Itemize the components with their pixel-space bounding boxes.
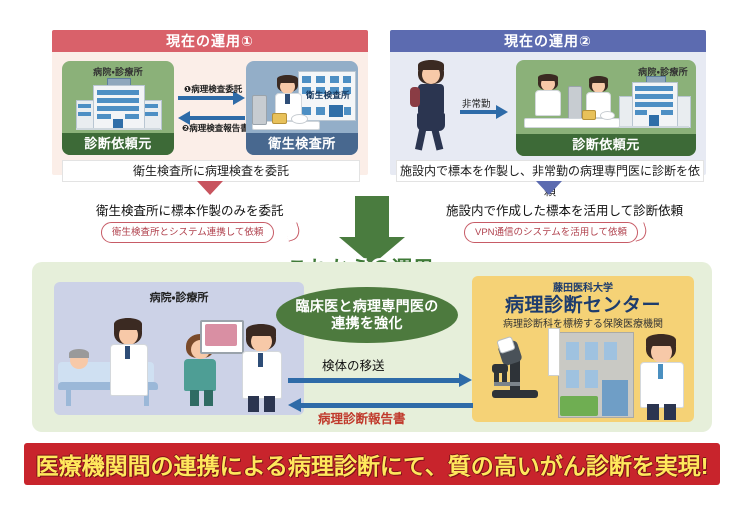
panel2-header: 現在の運用② <box>390 30 706 52</box>
consulting-doctor-figure <box>238 324 290 412</box>
pathologist-center-figure <box>638 334 688 420</box>
middle-left-bubble-tail <box>284 222 302 242</box>
panel1-arrow-report-label: ❷病理検査報告書 <box>182 122 249 134</box>
specimen-transfer-label: 検体の移送 <box>322 355 385 374</box>
panel1-lab-card-title: 衛生検査所 <box>306 89 358 101</box>
panel1-clinic-card: 病院・診療所 診断 <box>62 61 174 155</box>
future-clinic-box: 病院・診療所 <box>54 282 304 415</box>
panel-current-operation-2: 現在の運用② 非常勤 病院・診療所 <box>390 30 706 175</box>
pathology-center-subtitle: 病理診断科を標榜する保険医療機関 <box>472 315 694 330</box>
collaboration-ellipse: 臨床医と病理専門医の 連携を強化 <box>276 287 458 343</box>
panel1-arrow-request-label: ❶病理検査委託 <box>184 83 242 95</box>
infographic-canvas: 現在の運用① 病院・診療所 <box>0 0 744 524</box>
panel2-clinic-card: 病院・診療所 <box>516 60 696 156</box>
future-clinic-title: 病院・診療所 <box>54 289 304 305</box>
panel2-body: 非常勤 病院・診療所 <box>390 52 706 175</box>
panel1-clinic-card-caption: 診断依頼元 <box>62 133 174 155</box>
pathology-center-box: 藤田医科大学 病理診断センター 病理診断科を標榜する保険医療機関 <box>472 276 694 422</box>
panel1-body: 病院・診療所 診断 <box>52 52 368 175</box>
bottom-banner: 医療機関間の連携による病理診断にて、質の高いがん診断を実現! <box>24 443 720 485</box>
middle-right-bubble: VPN通信のシステムを活用して依頼 <box>464 222 638 243</box>
doctor-examining-figure <box>106 318 152 410</box>
part-time-doctor-figure <box>408 60 454 156</box>
middle-right-text: 施設内で作成した標本を活用して診断依頼 <box>446 200 683 219</box>
bottom-banner-text: 医療機関間の連携による病理診断にて、質の高いがん診断を実現! <box>36 447 709 481</box>
panel2-caption: 施設内で標本を作製し、非常勤の病理専門医に診断を依頼 <box>396 160 704 182</box>
middle-left-text: 衛生検査所に標本作製のみを委託 <box>96 200 284 219</box>
collaboration-ellipse-line1: 臨床医と病理専門医の <box>296 298 439 316</box>
panel1-down-triangle <box>197 181 223 195</box>
panel2-down-triangle <box>536 181 562 195</box>
panel2-clinic-card-caption: 診断依頼元 <box>516 134 696 156</box>
hospital-building-icon-2 <box>619 76 689 128</box>
lab-equipment-icon <box>568 86 582 122</box>
collaboration-ellipse-line2: 連携を強化 <box>296 315 439 333</box>
panel1-header: 現在の運用① <box>52 30 368 52</box>
center-sign-board <box>548 328 560 376</box>
panel1-clinic-card-title: 病院・診療所 <box>62 65 174 78</box>
pathologist-figure <box>530 74 566 124</box>
panel1-lab-card: 衛生検査所 衛生検査所 <box>246 61 358 155</box>
microscope-icon <box>484 338 546 416</box>
panel-current-operation-1: 現在の運用① 病院・診療所 <box>52 30 368 175</box>
hospital-building-icon <box>76 78 160 130</box>
panel1-lab-card-caption: 衛生検査所 <box>246 133 358 155</box>
middle-left-bubble: 衛生検査所とシステム連携して依頼 <box>101 222 274 243</box>
pathology-center-title: 病理診断センター <box>472 290 694 317</box>
pathology-report-label: 病理診断報告書 <box>318 408 406 427</box>
panel1-caption: 衛生検査所に病理検査を委託 <box>62 160 360 182</box>
center-building-icon <box>558 332 632 416</box>
panel2-parttime-label: 非常勤 <box>462 96 491 110</box>
